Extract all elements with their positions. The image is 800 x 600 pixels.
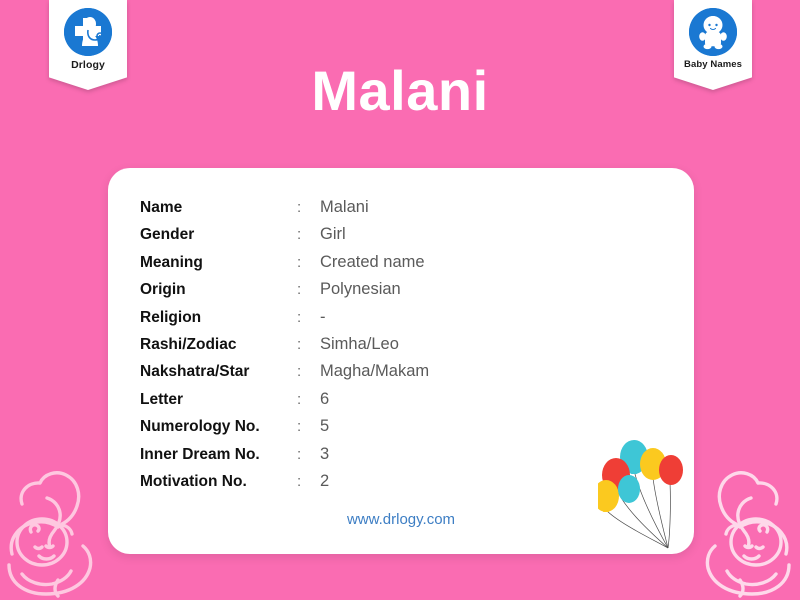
row-separator: : [297, 276, 320, 303]
row-value: Polynesian [320, 276, 429, 303]
poster-canvas: Drlogy Baby Names [0, 0, 800, 600]
row-label: Motivation No. [140, 468, 297, 495]
row-separator: : [297, 468, 320, 495]
table-row: Gender:Girl [140, 221, 429, 248]
row-separator: : [297, 358, 320, 385]
table-body: Name:MalaniGender:GirlMeaning:Created na… [140, 194, 429, 495]
table-row: Motivation No.:2 [140, 468, 429, 495]
mother-baby-icon [690, 470, 800, 600]
row-label: Gender [140, 221, 297, 248]
row-label: Nakshatra/Star [140, 358, 297, 385]
row-value: Malani [320, 194, 429, 221]
row-value: 2 [320, 468, 429, 495]
row-label: Religion [140, 304, 297, 331]
name-details-card: Name:MalaniGender:GirlMeaning:Created na… [108, 168, 694, 554]
table-row: Religion:- [140, 304, 429, 331]
row-label: Inner Dream No. [140, 441, 297, 468]
row-label: Numerology No. [140, 413, 297, 440]
table-row: Numerology No.:5 [140, 413, 429, 440]
row-value: Magha/Makam [320, 358, 429, 385]
name-details-table: Name:MalaniGender:GirlMeaning:Created na… [140, 194, 429, 495]
row-value: - [320, 304, 429, 331]
row-value: Created name [320, 249, 429, 276]
table-row: Meaning:Created name [140, 249, 429, 276]
table-row: Rashi/Zodiac:Simha/Leo [140, 331, 429, 358]
row-label: Meaning [140, 249, 297, 276]
row-label: Rashi/Zodiac [140, 331, 297, 358]
balloons-icon [598, 434, 690, 554]
row-separator: : [297, 413, 320, 440]
table-row: Name:Malani [140, 194, 429, 221]
row-label: Name [140, 194, 297, 221]
row-separator: : [297, 441, 320, 468]
row-separator: : [297, 331, 320, 358]
row-value: 6 [320, 386, 429, 413]
table-row: Origin:Polynesian [140, 276, 429, 303]
row-value: Girl [320, 221, 429, 248]
row-separator: : [297, 249, 320, 276]
table-row: Inner Dream No.:3 [140, 441, 429, 468]
page-title: Malani [0, 63, 800, 119]
row-separator: : [297, 304, 320, 331]
row-value: 3 [320, 441, 429, 468]
table-row: Nakshatra/Star:Magha/Makam [140, 358, 429, 385]
baby-icon [689, 8, 737, 56]
row-label: Letter [140, 386, 297, 413]
row-value: Simha/Leo [320, 331, 429, 358]
row-value: 5 [320, 413, 429, 440]
row-separator: : [297, 386, 320, 413]
drlogy-doctor-icon [64, 8, 112, 56]
table-row: Letter:6 [140, 386, 429, 413]
mother-baby-icon [0, 470, 108, 600]
row-separator: : [297, 194, 320, 221]
row-separator: : [297, 221, 320, 248]
row-label: Origin [140, 276, 297, 303]
